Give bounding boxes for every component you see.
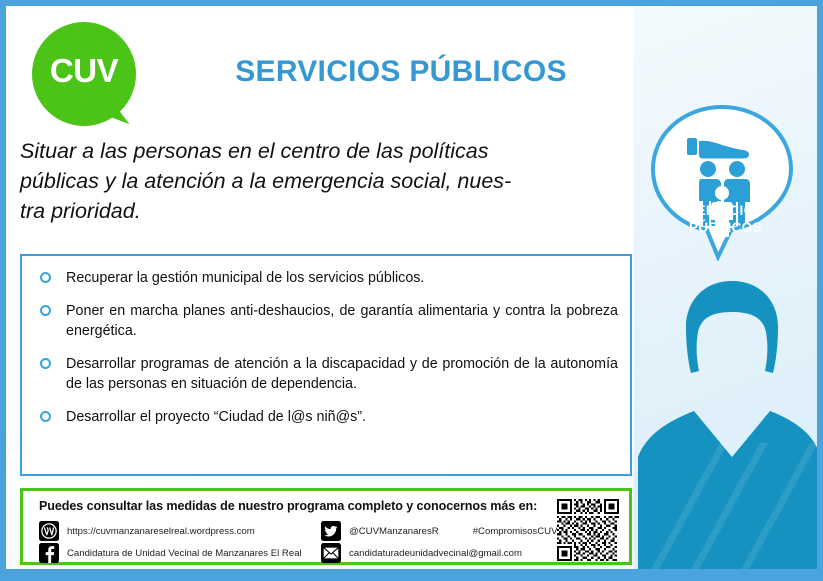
wordpress-url: https://cuvmanzanareselreal.wordpress.co… (67, 526, 255, 537)
list-item-text: Desarrollar programas de atención a la d… (66, 356, 618, 392)
contact-twitter[interactable]: @CUVManzanaresR #CompromisosCUV (321, 521, 557, 541)
bullet-ring-icon (40, 272, 51, 283)
content-area: CUV SERVICIOS PÚBLICOS Situar a las pers… (6, 6, 640, 575)
list-item: Desarrollar programas de atención a la d… (38, 354, 618, 394)
intro-line-2: públicas y la atención a la emergencia s… (20, 166, 632, 196)
twitter-handle: @CUVManzanaresR (349, 526, 439, 537)
contact-facebook[interactable]: Candidatura de Unidad Vecinal de Manzana… (39, 543, 302, 563)
contact-wordpress[interactable]: https://cuvmanzanareselreal.wordpress.co… (39, 521, 255, 541)
list-item: Poner en marcha planes anti-deshaucios, … (38, 301, 618, 341)
list-item-text: Desarrollar el proyecto “Ciudad de l@s n… (66, 409, 366, 425)
wordpress-icon (39, 521, 59, 541)
bottom-border-strip (6, 569, 817, 575)
facebook-page: Candidatura de Unidad Vecinal de Manzana… (67, 548, 302, 559)
proposals-box: Recuperar la gestión municipal de los se… (20, 254, 632, 476)
contact-email[interactable]: candidaturadeunidadvecinal@gmail.com (321, 543, 522, 563)
logo-text: CUV (32, 22, 136, 126)
intro-line-1: Situar a las personas en el centro de la… (20, 136, 632, 166)
facebook-icon (39, 543, 59, 563)
sidebar-label: SERVICIOS PÚBLICOS (634, 202, 817, 236)
email-address: candidaturadeunidadvecinal@gmail.com (349, 548, 522, 559)
list-item: Recuperar la gestión municipal de los se… (38, 268, 618, 288)
qr-code[interactable] (557, 499, 619, 561)
cuv-logo: CUV (32, 22, 136, 126)
sidebar-label-line-1: SERVICIOS (634, 202, 817, 219)
bullet-ring-icon (40, 305, 51, 316)
contact-footer: Puedes consultar las medidas de nuestro … (20, 488, 632, 565)
hand-protecting-family-icon (648, 103, 796, 261)
email-icon (321, 543, 341, 563)
page-title: SERVICIOS PÚBLICOS (176, 55, 626, 89)
intro-line-3: tra prioridad. (20, 196, 632, 226)
list-item-text: Poner en marcha planes anti-deshaucios, … (66, 303, 618, 339)
person-silhouette (634, 275, 817, 575)
bullet-ring-icon (40, 411, 51, 422)
intro-paragraph: Situar a las personas en el centro de la… (20, 136, 632, 226)
list-item-text: Recuperar la gestión municipal de los se… (66, 270, 424, 286)
twitter-icon (321, 521, 341, 541)
footer-heading: Puedes consultar las medidas de nuestro … (39, 499, 537, 513)
poster: CUV SERVICIOS PÚBLICOS Situar a las pers… (0, 0, 823, 581)
twitter-hashtag: #CompromisosCUV (473, 526, 558, 537)
sidebar-graphics: SERVICIOS PÚBLICOS (634, 6, 817, 575)
sidebar-label-line-2: PÚBLICOS (634, 219, 817, 236)
proposals-list: Recuperar la gestión municipal de los se… (38, 268, 618, 427)
bullet-ring-icon (40, 358, 51, 369)
list-item: Desarrollar el proyecto “Ciudad de l@s n… (38, 407, 618, 427)
